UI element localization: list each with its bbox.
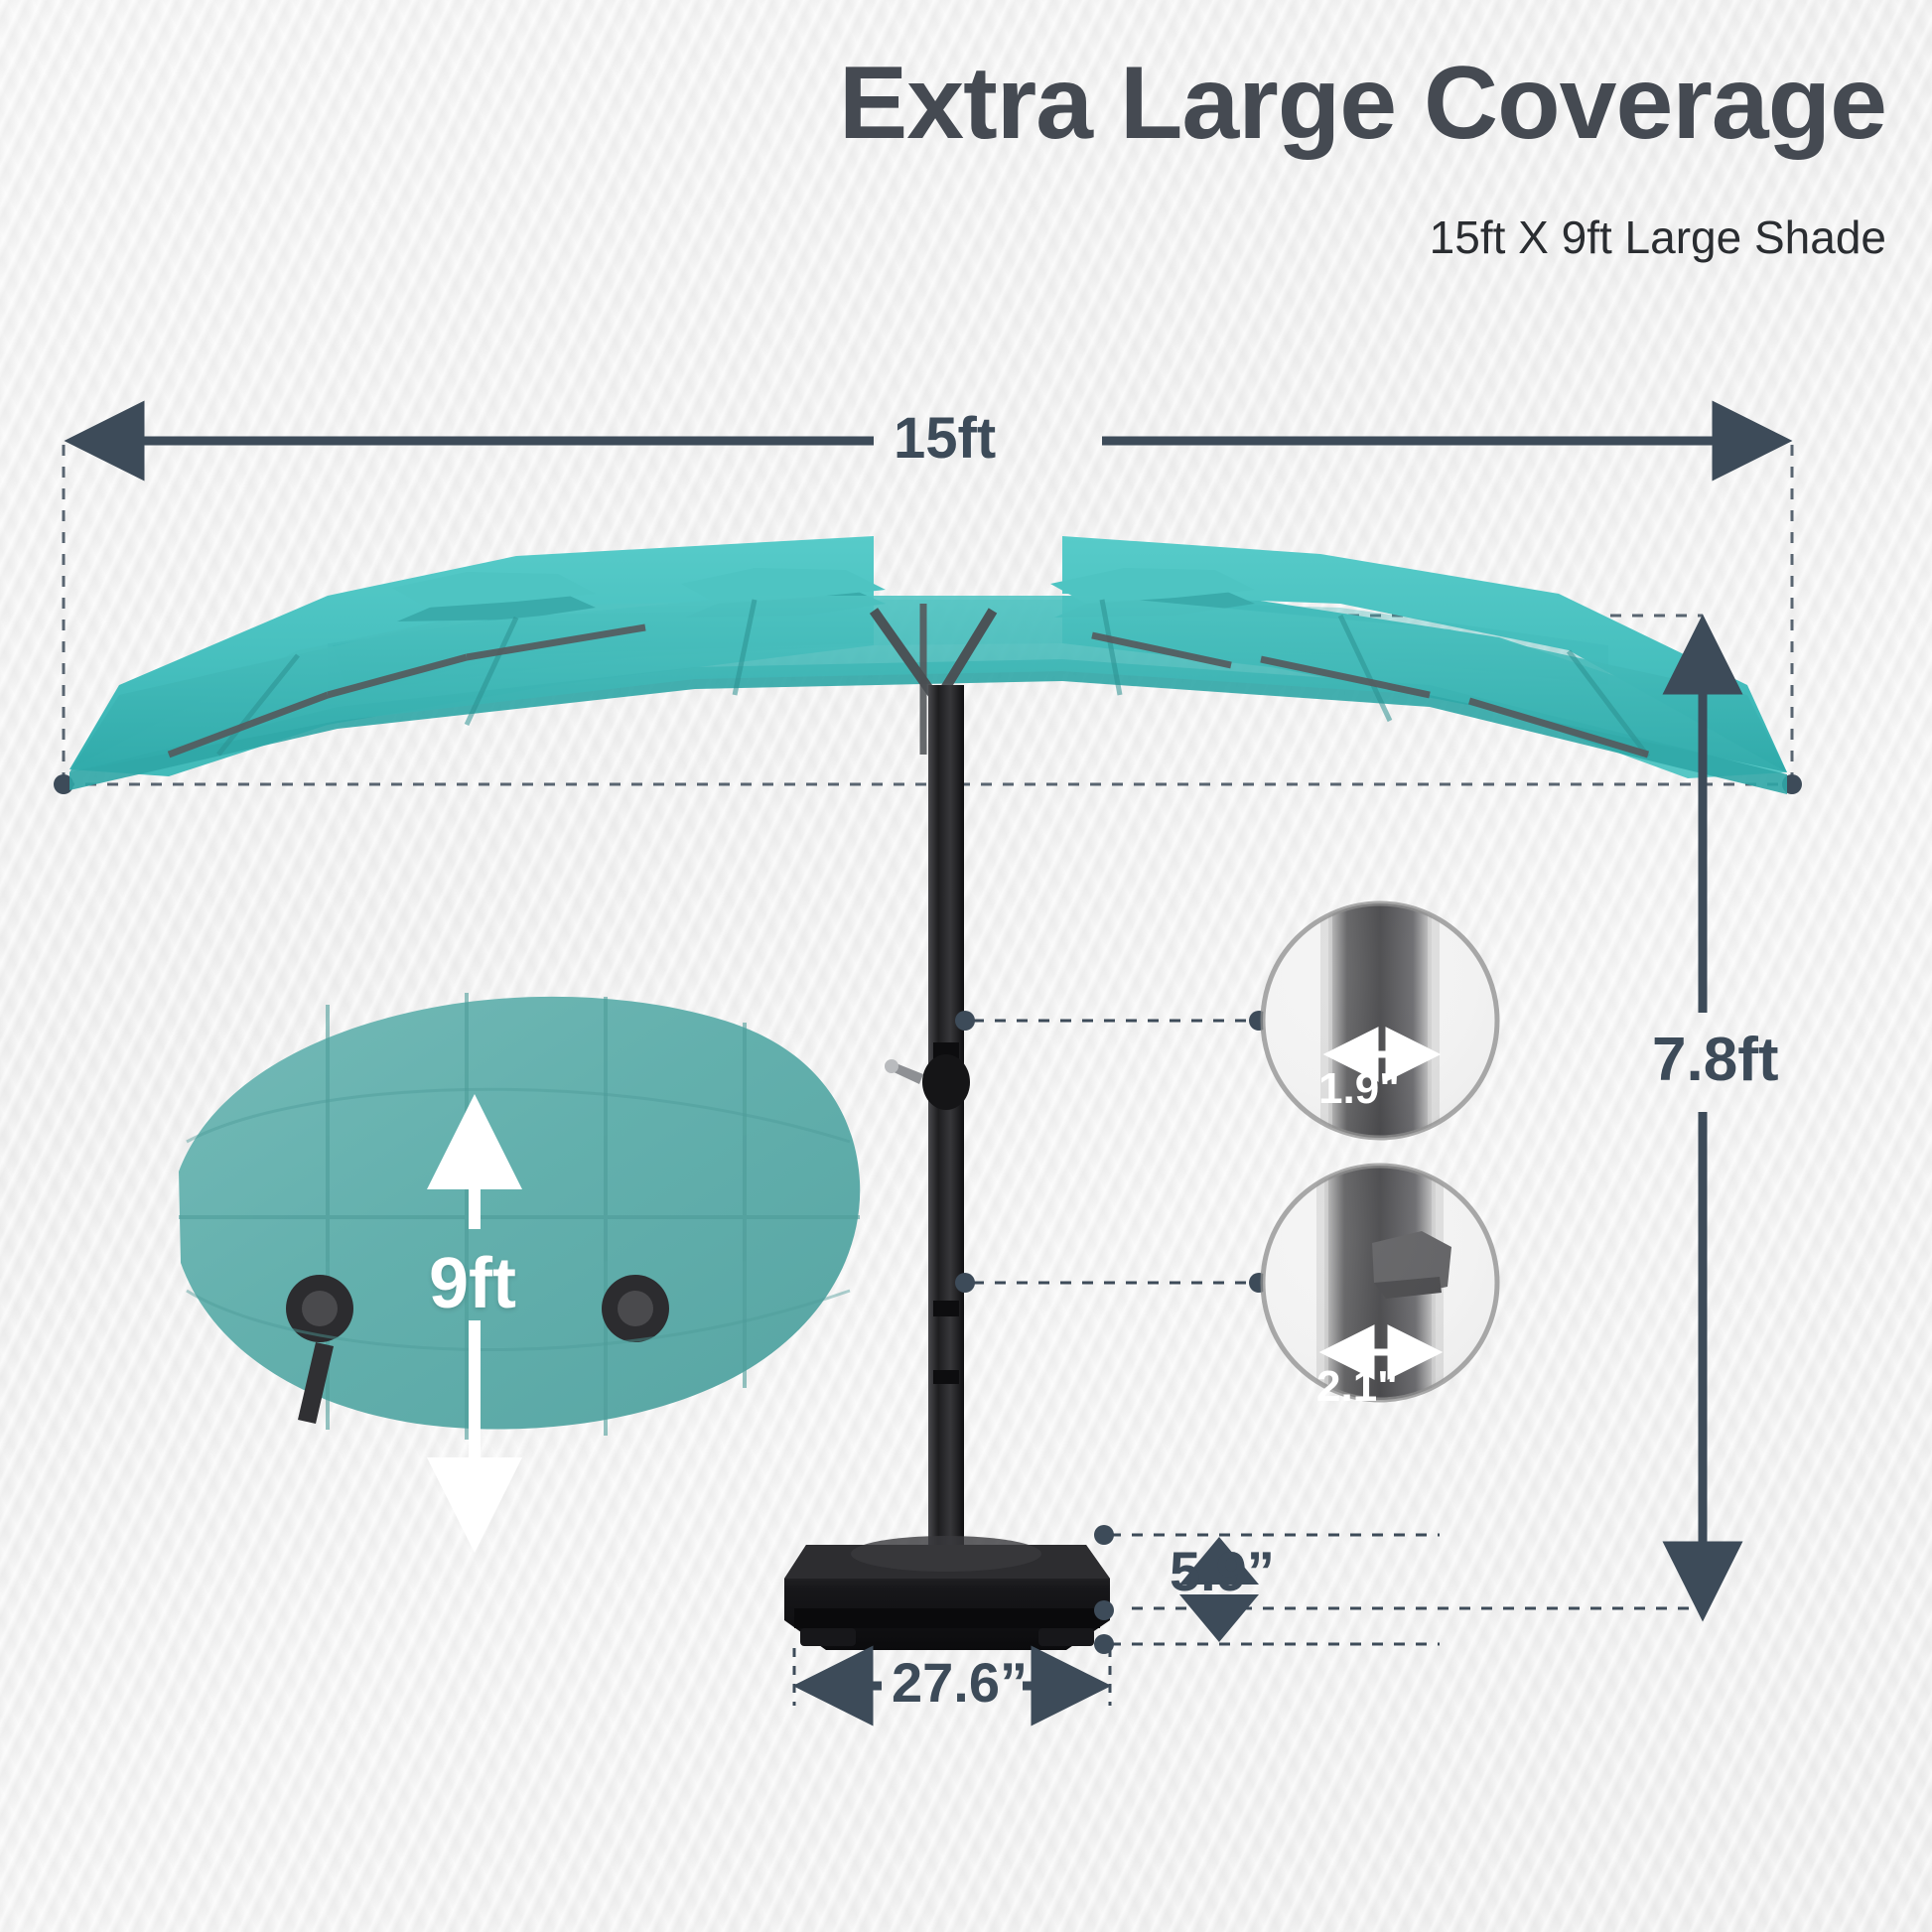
infographic-canvas: Extra Large Coverage 15ft X 9ft Large Sh… — [0, 0, 1932, 1932]
dimension-label-base-width: 27.6” — [892, 1650, 1028, 1715]
callout-lower-pole — [955, 1166, 1497, 1400]
umbrella-base — [784, 1536, 1110, 1650]
dimension-label-width: 15ft — [894, 405, 996, 472]
umbrella-pole — [885, 685, 970, 1549]
product-illustration — [0, 0, 1932, 1932]
dimension-label-depth: 9ft — [429, 1243, 516, 1324]
dimension-label-lower-pole-diameter: 2.1" — [1316, 1362, 1398, 1412]
dimension-label-upper-pole-diameter: 1.9" — [1318, 1064, 1400, 1114]
dimension-label-height: 7.8ft — [1652, 1025, 1778, 1095]
callout-upper-pole — [955, 903, 1497, 1138]
umbrella-top-view — [179, 993, 860, 1440]
dimension-label-base-height: 5.9” — [1170, 1539, 1275, 1603]
